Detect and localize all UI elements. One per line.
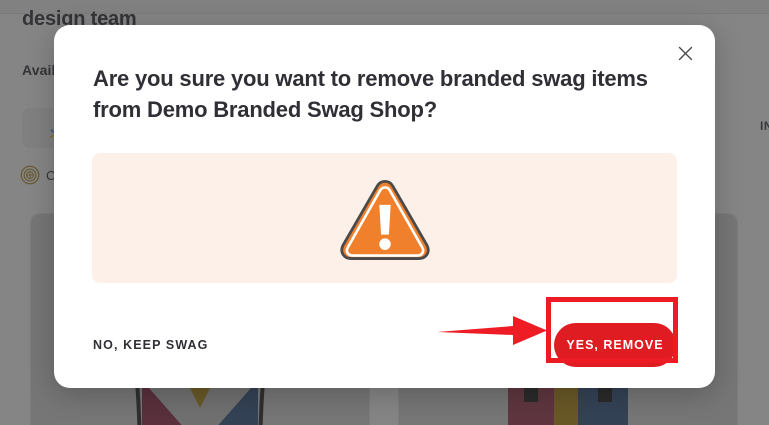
warning-triangle-icon [337, 175, 433, 261]
warning-alert-box [92, 153, 677, 283]
dialog-actions: NO, KEEP SWAG YES, REMOVE [54, 305, 715, 388]
yes-remove-button[interactable]: YES, REMOVE [554, 323, 676, 367]
close-x-icon [678, 46, 693, 61]
confirm-remove-swag-dialog: Are you sure you want to remove branded … [54, 25, 715, 388]
screenshot-root: design team Available integrations Credi… [0, 0, 769, 425]
dialog-title: Are you sure you want to remove branded … [93, 63, 648, 125]
keep-swag-button[interactable]: NO, KEEP SWAG [93, 338, 208, 352]
close-icon[interactable] [671, 39, 699, 67]
